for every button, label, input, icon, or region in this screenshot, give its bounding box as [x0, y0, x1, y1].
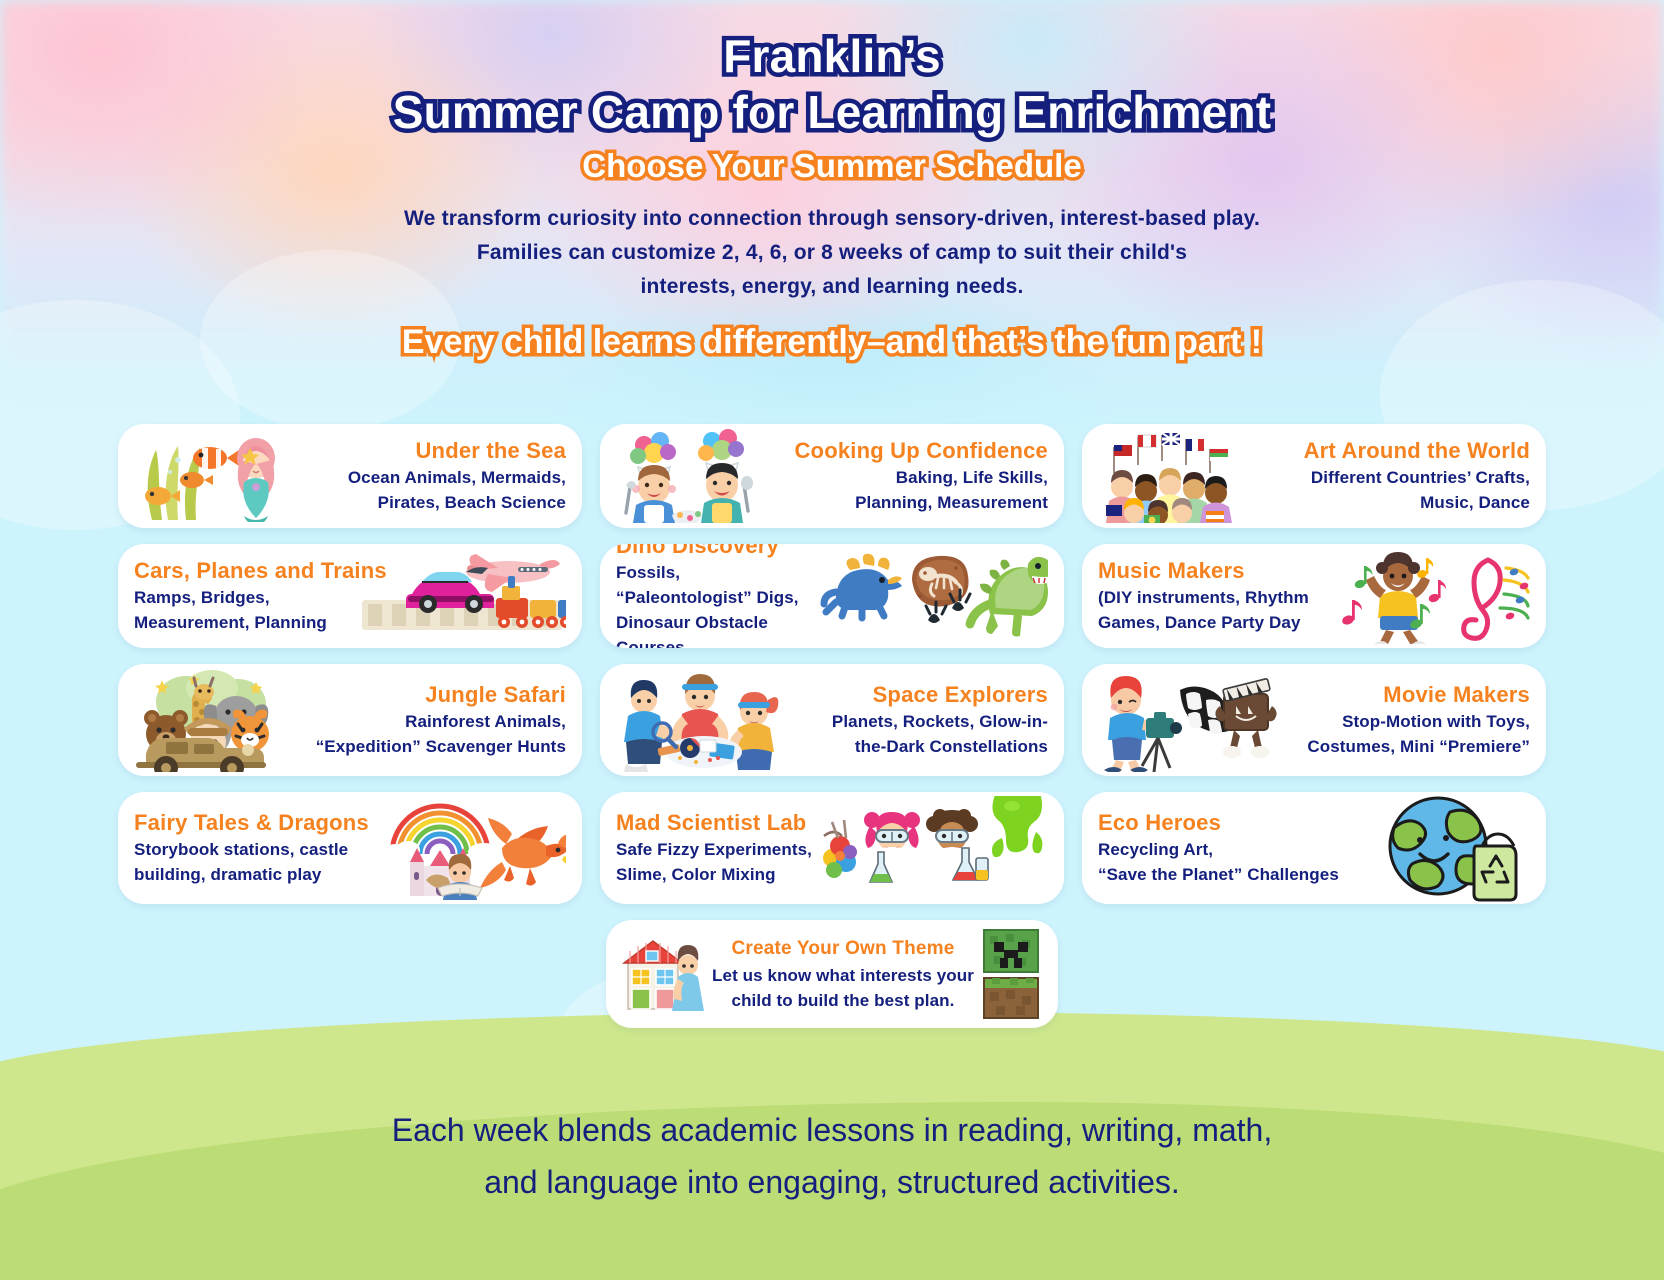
card-desc-line-1: Let us know what interests your: [706, 963, 980, 988]
card-title: Jungle Safari: [306, 681, 566, 709]
mermaid-seaweed-fish-icon: [134, 430, 284, 522]
science-kids-slime-icon: [818, 796, 1048, 900]
footer-note: Each week blends academic lessons in rea…: [0, 1104, 1664, 1208]
theme-card-movie-makers[interactable]: Movie Makers Stop-Motion with Toys, Cost…: [1082, 664, 1546, 776]
title-line-1: Franklin’s: [0, 28, 1664, 84]
card-desc-line-2: the-Dark Constellations: [788, 734, 1048, 759]
card-row-5: Create Your Own Theme Let us know what i…: [118, 920, 1546, 1028]
card-desc-line-1: Baking, Life Skills,: [756, 465, 1048, 490]
card-desc-line-2: “Save the Planet” Challenges: [1098, 862, 1380, 887]
dragon-castle-rainbow-icon: [380, 796, 566, 900]
card-desc-line-2: Costumes, Mini “Premiere”: [1288, 734, 1530, 759]
page-subtitle: Choose Your Summer Schedule: [0, 144, 1664, 188]
card-title: Mad Scientist Lab: [616, 809, 818, 837]
card-title: Cars, Planes and Trains: [134, 557, 356, 585]
theme-card-dino-discovery[interactable]: Dino Discovery Fossils, “Paleontologist”…: [600, 544, 1064, 648]
safari-jeep-animals-icon: [134, 668, 306, 772]
intro-line-2: Families can customize 2, 4, 6, or 8 wee…: [0, 236, 1664, 270]
card-desc-line-2: “Expedition” Scavenger Hunts: [306, 734, 566, 759]
card-title: Movie Makers: [1288, 681, 1530, 709]
theme-card-grid: Under the Sea Ocean Animals, Mermaids, P…: [118, 424, 1546, 1044]
title-line-2: Summer Camp for Learning Enrichment: [0, 84, 1664, 140]
chef-kids-icon: [616, 429, 756, 523]
card-row-3: Jungle Safari Rainforest Animals, “Exped…: [118, 664, 1546, 776]
card-title: Fairy Tales & Dragons: [134, 809, 380, 837]
dinosaur-fossil-icon: [820, 548, 1048, 644]
card-desc-line-1: (DIY instruments, Rhythm: [1098, 585, 1340, 610]
theme-card-mad-scientist-lab[interactable]: Mad Scientist Lab Safe Fizzy Experiments…: [600, 792, 1064, 904]
intro-line-1: We transform curiosity into connection t…: [0, 202, 1664, 236]
card-title: Music Makers: [1098, 557, 1340, 585]
theme-card-cars-planes-and-trains[interactable]: Cars, Planes and Trains Ramps, Bridges, …: [118, 544, 582, 648]
card-desc-line-1: Storybook stations, castle: [134, 837, 380, 862]
card-title: Eco Heroes: [1098, 809, 1380, 837]
card-desc-line-2: Planning, Measurement: [756, 490, 1048, 515]
dancing-child-music-notes-icon: [1340, 548, 1530, 644]
theme-card-space-explorers[interactable]: Space Explorers Planets, Rockets, Glow-i…: [600, 664, 1064, 776]
card-desc-line-1: Rainforest Animals,: [306, 709, 566, 734]
footer-line-1: Each week blends academic lessons in rea…: [0, 1104, 1664, 1156]
footer-line-2: and language into engaging, structured a…: [0, 1156, 1664, 1208]
card-desc-line-1: Fossils, “Paleontologist” Digs,: [616, 560, 820, 610]
card-desc-line-2: Dinosaur Obstacle Courses: [616, 610, 820, 648]
theme-card-fairy-tales-and-dragons[interactable]: Fairy Tales & Dragons Storybook stations…: [118, 792, 582, 904]
theme-card-art-around-the-world[interactable]: Art Around the World Different Countries…: [1082, 424, 1546, 528]
card-desc-line-1: Ramps, Bridges,: [134, 585, 356, 610]
theme-card-under-the-sea[interactable]: Under the Sea Ocean Animals, Mermaids, P…: [118, 424, 582, 528]
theme-card-cooking-up-confidence[interactable]: Cooking Up Confidence Baking, Life Skill…: [600, 424, 1064, 528]
card-desc-line-1: Stop-Motion with Toys,: [1288, 709, 1530, 734]
kids-exploring-space-icon: [616, 668, 788, 772]
card-desc-line-1: Planets, Rockets, Glow-in-: [788, 709, 1048, 734]
header: Franklin’s Summer Camp for Learning Enri…: [0, 0, 1664, 364]
card-title: Under the Sea: [284, 437, 566, 465]
card-title: Cooking Up Confidence: [756, 437, 1048, 465]
dollhouse-child-icon: [622, 931, 706, 1017]
card-desc-line-1: Different Countries’ Crafts,: [1238, 465, 1530, 490]
summer-camp-flyer: Franklin’s Summer Camp for Learning Enri…: [0, 0, 1664, 1280]
card-desc-line-2: Slime, Color Mixing: [616, 862, 818, 887]
theme-card-music-makers[interactable]: Music Makers (DIY instruments, Rhythm Ga…: [1082, 544, 1546, 648]
card-desc-line-1: Recycling Art,: [1098, 837, 1380, 862]
card-title: Space Explorers: [788, 681, 1048, 709]
card-desc-line-1: Safe Fizzy Experiments,: [616, 837, 818, 862]
card-row-4: Fairy Tales & Dragons Storybook stations…: [118, 792, 1546, 904]
intro-line-3: interests, energy, and learning needs.: [0, 270, 1664, 304]
theme-card-create-your-own-theme[interactable]: Create Your Own Theme Let us know what i…: [606, 920, 1058, 1028]
card-desc-line-1: Ocean Animals, Mermaids,: [284, 465, 566, 490]
card-row-2: Cars, Planes and Trains Ramps, Bridges, …: [118, 544, 1546, 648]
plane-car-train-icon: [356, 548, 566, 644]
camera-filmstrip-clapper-icon: [1098, 668, 1288, 772]
card-desc-line-2: Measurement, Planning: [134, 610, 356, 635]
card-title: Dino Discovery: [616, 544, 820, 560]
intro-paragraph: We transform curiosity into connection t…: [0, 202, 1664, 304]
earth-recycling-icon: [1380, 794, 1530, 902]
children-with-flags-icon: [1098, 429, 1238, 523]
card-row-1: Under the Sea Ocean Animals, Mermaids, P…: [118, 424, 1546, 528]
card-title: Art Around the World: [1238, 437, 1530, 465]
card-desc-line-2: Pirates, Beach Science: [284, 490, 566, 515]
tagline: Every child learns differently–and that’…: [0, 320, 1664, 364]
card-desc-line-2: building, dramatic play: [134, 862, 380, 887]
page-title: Franklin’s Summer Camp for Learning Enri…: [0, 0, 1664, 140]
theme-card-jungle-safari[interactable]: Jungle Safari Rainforest Animals, “Exped…: [118, 664, 582, 776]
theme-card-eco-heroes[interactable]: Eco Heroes Recycling Art, “Save the Plan…: [1082, 792, 1546, 904]
card-title: Create Your Own Theme: [706, 935, 980, 963]
minecraft-blocks-icon: [980, 928, 1042, 1020]
card-desc-line-2: Games, Dance Party Day: [1098, 610, 1340, 635]
card-desc-line-2: child to build the best plan.: [706, 988, 980, 1013]
card-desc-line-2: Music, Dance: [1238, 490, 1530, 515]
